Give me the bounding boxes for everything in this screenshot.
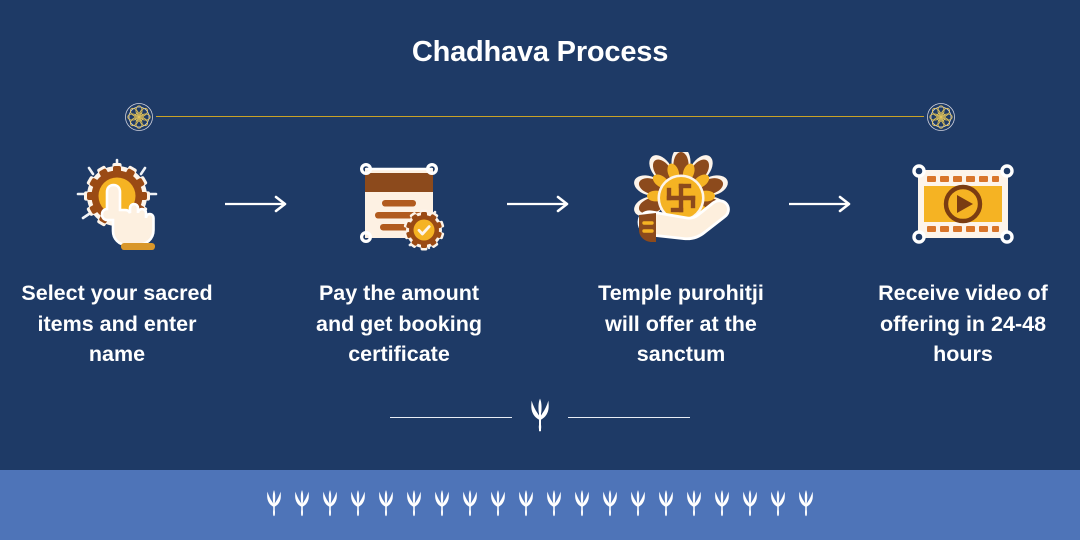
arrow-right-icon-1 [215,152,301,256]
trishul-icon [319,489,341,522]
process-step-1-label: Select your sacred items and enter name [19,278,215,370]
mandala-ornament-left-icon [120,98,158,136]
process-step-1: Select your sacred items and enter name [19,152,215,370]
divider-segment-left [390,417,512,418]
certificate-seal-icon [349,152,449,256]
bottom-trishul-divider [0,398,1080,437]
trishul-icon [655,489,677,522]
trishul-icon [515,489,537,522]
process-step-2: Pay the amount and get booking certifica… [301,152,497,370]
process-step-2-label: Pay the amount and get booking certifica… [301,278,497,370]
trishul-icon [375,489,397,522]
trishul-icon [627,489,649,522]
bottom-decorative-band [0,470,1080,540]
process-step-3-label: Temple purohitji will offer at the sanct… [583,278,779,370]
hand-offering-swastika-coin-icon [629,152,733,256]
divider-segment-right [568,417,690,418]
trishul-icon [571,489,593,522]
process-step-3: Temple purohitji will offer at the sanct… [583,152,779,370]
trishul-icon [263,489,285,522]
video-film-play-icon [908,152,1018,256]
process-step-4: Receive video of offering in 24-48 hours [865,152,1061,370]
trishul-icon [431,489,453,522]
arrow-right-icon-2 [497,152,583,256]
divider-line [156,116,924,117]
trishul-icon [347,489,369,522]
trishul-icon [459,489,481,522]
top-ornamental-divider [120,98,960,136]
trishul-icon [683,489,705,522]
trishul-icon [795,489,817,522]
hand-tap-sunburst-icon [67,152,167,256]
trishul-icon [543,489,565,522]
mandala-ornament-right-icon [922,98,960,136]
trishul-icon [767,489,789,522]
trishul-icon [711,489,733,522]
arrow-right-icon-3 [779,152,865,256]
process-steps: Select your sacred items and enter name [0,152,1080,370]
trishul-icon [739,489,761,522]
trishul-icon [599,489,621,522]
page-title: Chadhava Process [0,36,1080,69]
trishul-icon [526,398,554,437]
chadhava-process-infographic: Chadhava Process [0,0,1080,540]
trishul-pattern-strip [263,489,817,522]
trishul-icon [403,489,425,522]
trishul-icon [291,489,313,522]
process-step-4-label: Receive video of offering in 24-48 hours [865,278,1061,370]
trishul-icon [487,489,509,522]
